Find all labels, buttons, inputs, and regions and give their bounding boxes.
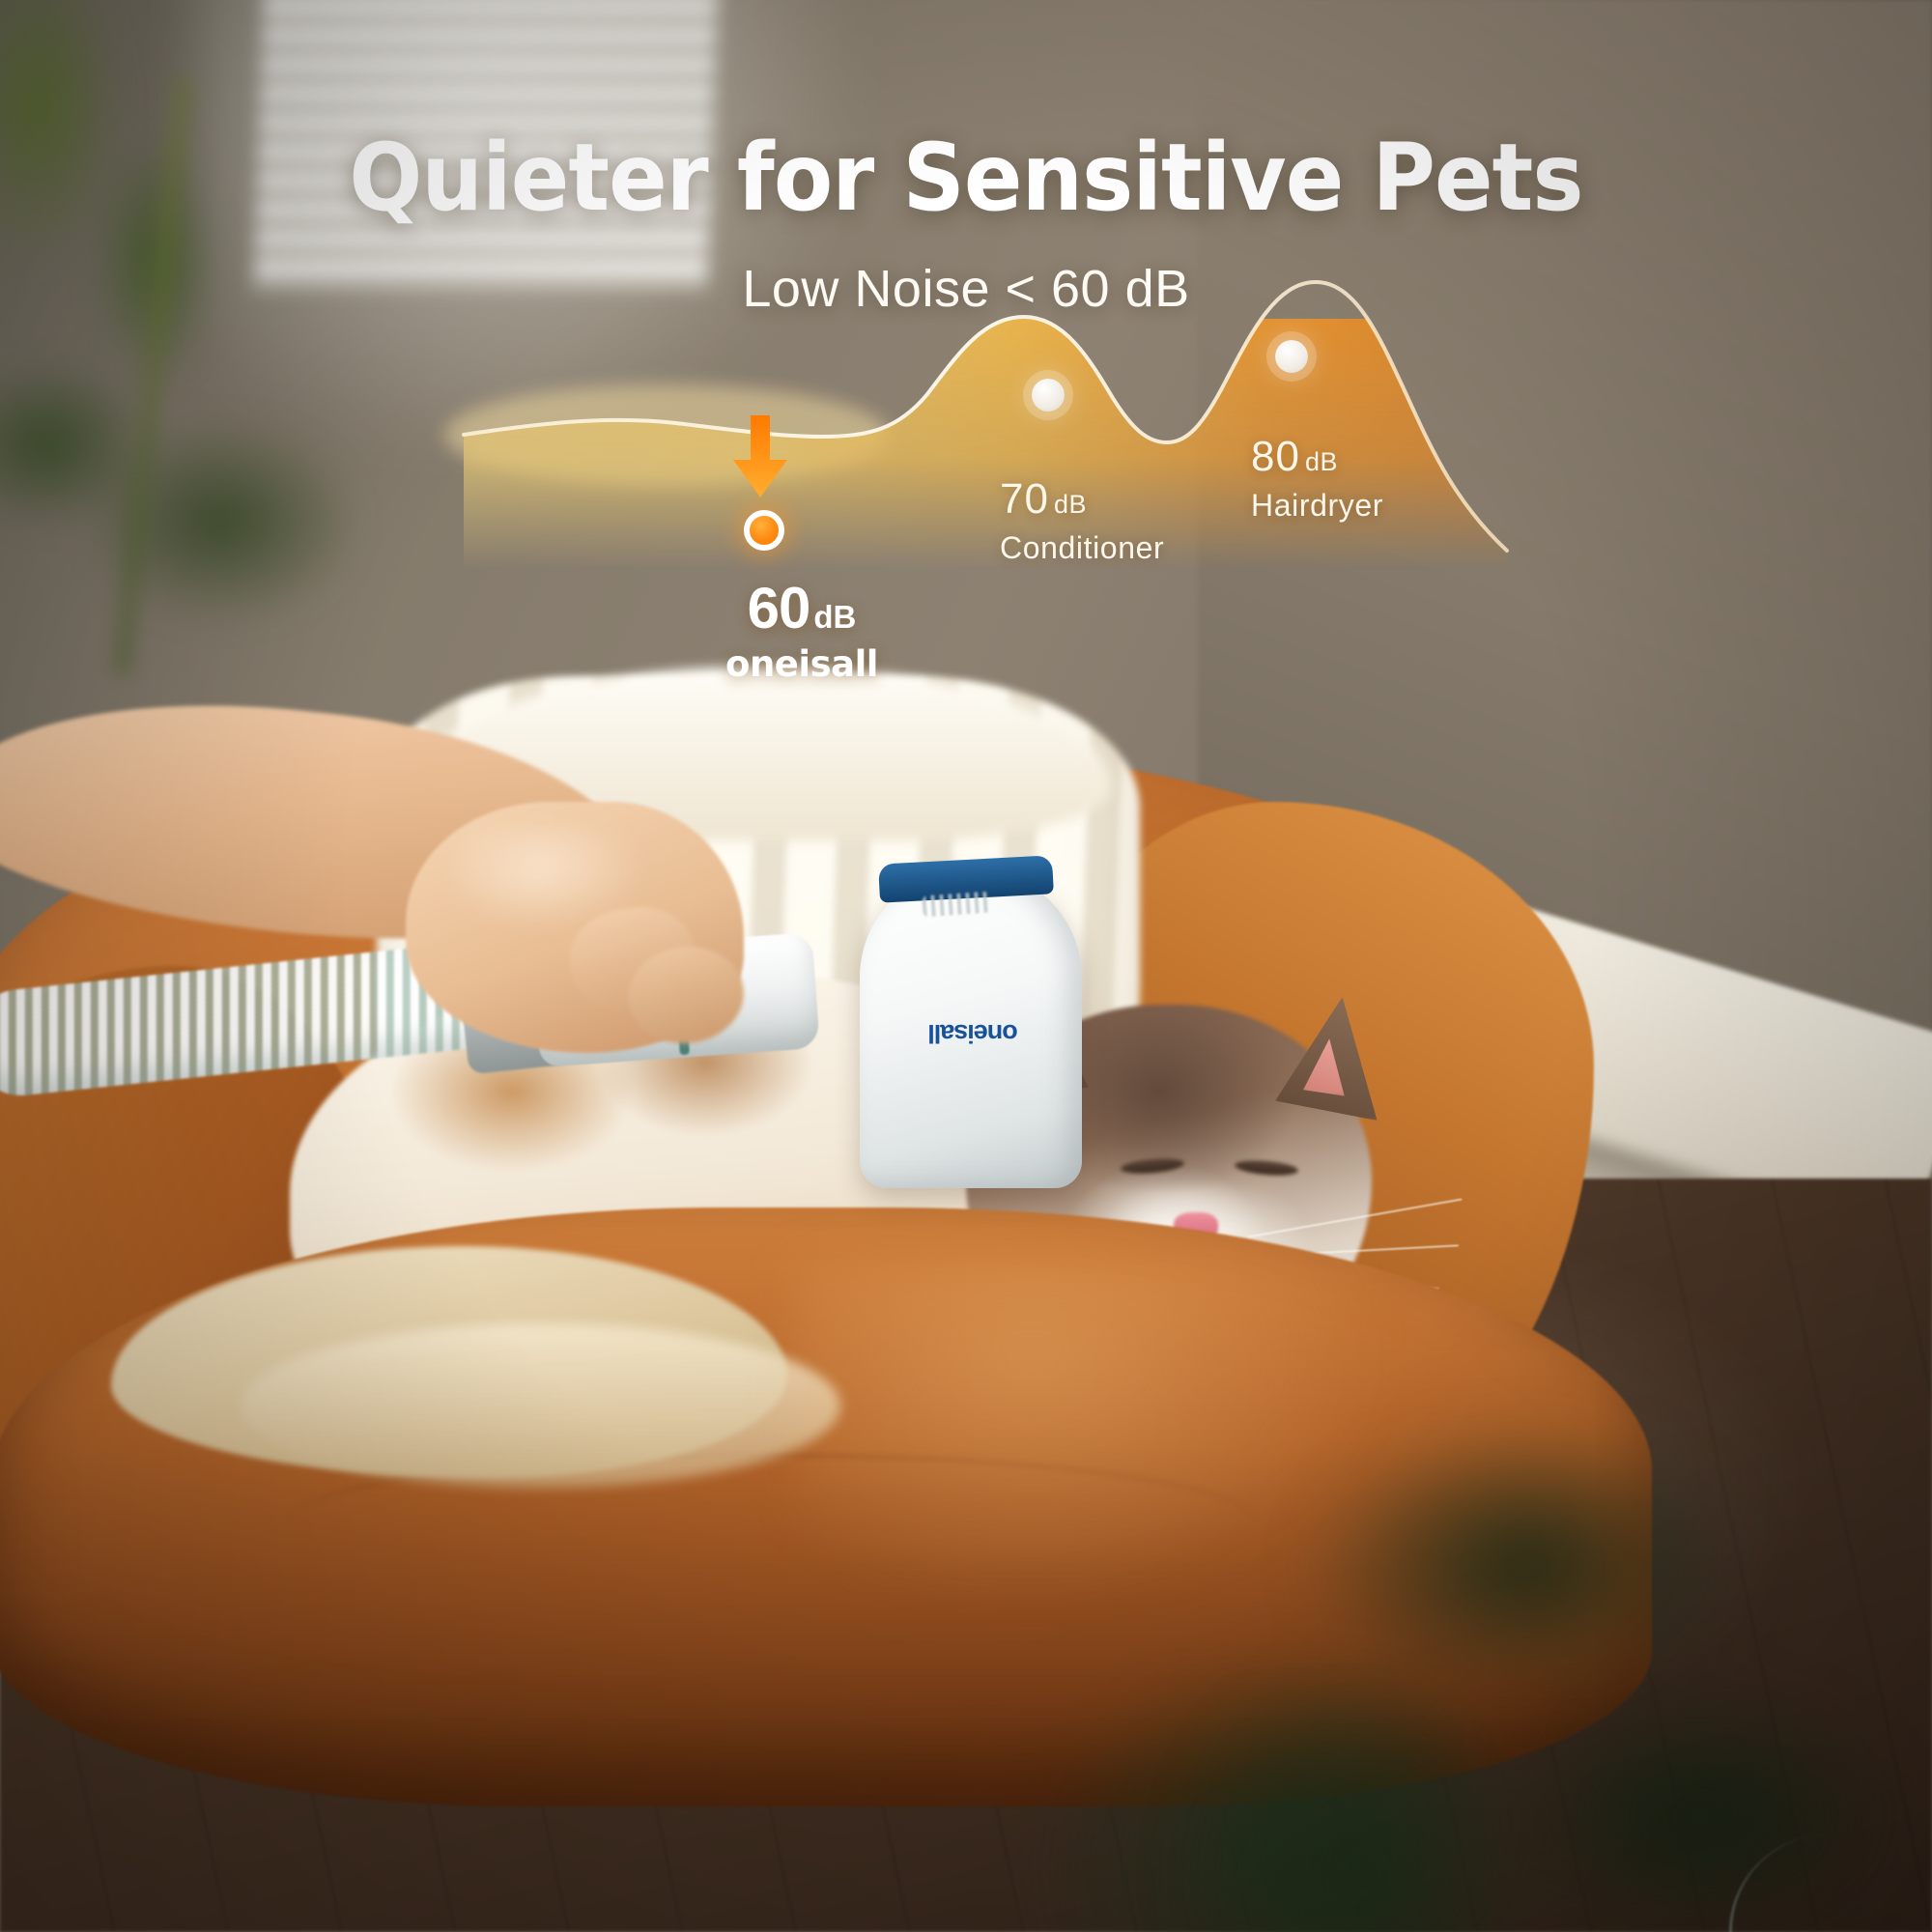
- pet-bed-inner-mat-highlight: [241, 1323, 840, 1488]
- conditioner-source: Conditioner: [1000, 530, 1164, 566]
- chart-label-oneisall: 60dB oneisall: [676, 575, 927, 685]
- oneisall-value: 60: [748, 576, 810, 640]
- hairdryer-unit: dB: [1305, 447, 1338, 476]
- marker-dot-conditioner: [1032, 379, 1065, 412]
- chart-label-hairdryer: 80dB Hairdryer: [1251, 433, 1383, 524]
- conditioner-value: 70: [1000, 475, 1049, 523]
- page-title: Quieter for Sensitive Pets: [68, 124, 1864, 232]
- oneisall-brand-text: oneisall: [676, 643, 927, 685]
- oneisall-unit: dB: [813, 599, 856, 635]
- low-noise-down-arrow-icon: [731, 415, 789, 497]
- hairdryer-value: 80: [1251, 433, 1300, 480]
- background-plant: [0, 0, 415, 676]
- marker-dot-hairdryer: [1275, 340, 1308, 373]
- conditioner-unit: dB: [1054, 490, 1087, 519]
- hairdryer-source: Hairdryer: [1251, 488, 1383, 524]
- product-marketing-image: oneisall: [0, 0, 1932, 1932]
- marker-dot-oneisall: [744, 510, 784, 551]
- device-brand-logo-text: oneisall: [928, 1019, 1018, 1049]
- page-subtitle: Low Noise < 60 dB: [0, 259, 1932, 319]
- device-brand-logo: oneisall: [894, 1014, 1053, 1053]
- foreground-leaf: [1121, 1275, 1932, 1932]
- chart-label-conditioner: 70dB Conditioner: [1000, 475, 1164, 566]
